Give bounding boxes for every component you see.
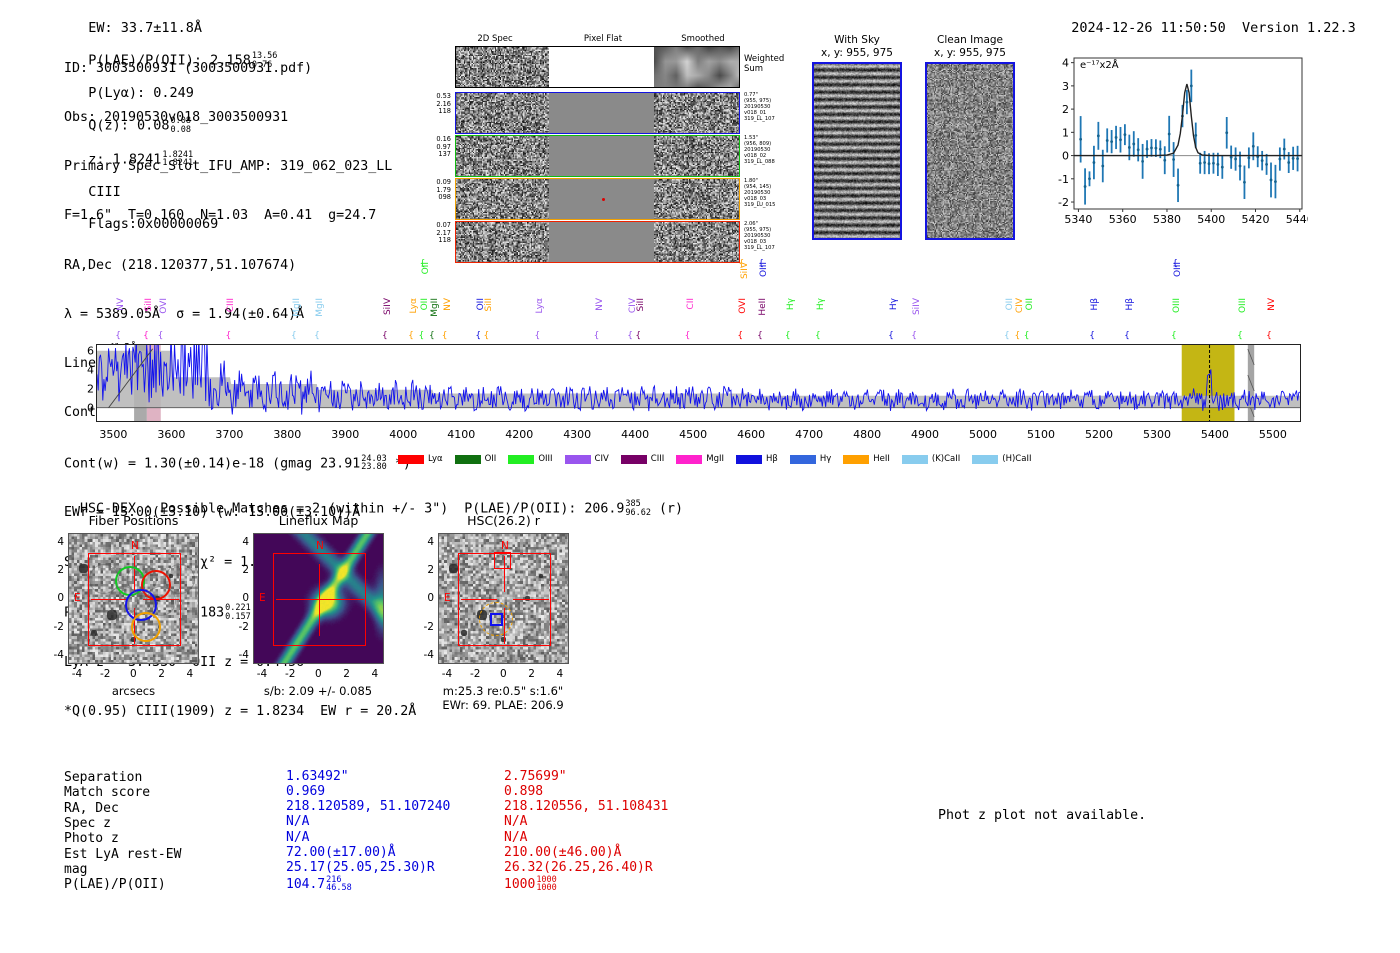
emission-line-bracket-icon: { [314, 331, 320, 341]
panel-ytick: 0 [231, 592, 249, 604]
emission-line-bracket-icon: { [419, 331, 425, 341]
emission-line-bracket-icon: { [1124, 331, 1130, 341]
match-table-col2-value: N/A [504, 814, 527, 829]
spectrum-xtick: 4200 [505, 428, 533, 441]
match-table-col1-0: 1.63492" [286, 769, 349, 784]
full-spectrum-yaxis: 0246e⁻¹⁷x2Å [70, 344, 94, 424]
header-timestamp-version: 2024-12-26 11:50:50 Version 1.22.3 [1055, 4, 1356, 36]
match-marker-box-2 [490, 613, 503, 626]
svg-text:-1: -1 [1058, 173, 1069, 186]
panel-ytick: 4 [416, 536, 434, 548]
full-spectrum-xaxis: 3500360037003800390040004100420043004400… [96, 424, 1301, 446]
fiber-meta-3: 2.06" (955, 975) 20190530 v018_03 319_LL… [744, 221, 775, 251]
fiber-circle-orange [131, 612, 161, 642]
emission-line-label: Hβ [1090, 298, 1100, 311]
compass-north: N [316, 540, 324, 552]
svg-text:-2: -2 [1058, 196, 1069, 209]
emission-line-bracket-icon: { [1089, 331, 1095, 341]
emission-line-label: MgII [292, 298, 302, 317]
legend-item-Hγ: Hγ [790, 454, 831, 464]
legend-label: OII [485, 454, 497, 464]
spec2d-fiber-cutout-0 [455, 92, 740, 134]
emission-line-bracket-icon: { [1024, 331, 1030, 341]
panel-ytick: 2 [46, 564, 64, 576]
match-table-col2-5: 210.00(±46.00)Å [504, 845, 621, 860]
legend-item-HeII: HeII [843, 454, 890, 464]
match-table-col2-value: N/A [504, 830, 527, 845]
match-table-col2-4: N/A [504, 830, 527, 845]
spectrum-xtick: 5500 [1259, 428, 1287, 441]
fiber-marker-dot [602, 198, 605, 201]
emission-line-label: HeII [758, 298, 768, 316]
emission-line-label: OII [420, 298, 430, 310]
emission-line-label: SiII [636, 298, 646, 312]
legend-swatch [398, 455, 424, 464]
panel-ytick: -4 [231, 649, 249, 661]
crosshair-horizontal-right [513, 599, 549, 600]
spectrum-xtick: 4700 [795, 428, 823, 441]
emission-line-bracket-icon: { [291, 331, 297, 341]
emission-line-bracket-icon: { [225, 331, 231, 341]
emission-line-bracket-icon: { [475, 331, 481, 341]
legend-swatch [621, 455, 647, 464]
hscdex-band: (r) [659, 502, 683, 517]
legend-swatch [736, 455, 762, 464]
info-cont-w: Cont(w) = 1.30(±0.14)e-18 (gmag 23.9124.… [64, 455, 416, 473]
info-q-line: *Q(0.95) CIII(1909) z = 1.8234 EW r = 20… [64, 704, 416, 720]
emission-line-bracket-icon: { [785, 331, 791, 341]
cutout-panel-2: HSC(26.2) rNE420-2-4-4-2024m:25.3 re:0.5… [438, 533, 569, 664]
info-gmag-range: 24.0323.80 [361, 455, 387, 472]
emission-line-label: CIV [1015, 298, 1025, 313]
compass-east: E [74, 592, 81, 604]
emission-line-bracket-icon: { [635, 331, 641, 341]
emission-line-bracket-icon: { [429, 331, 435, 341]
emission-line-bracket-icon: { [1171, 331, 1177, 341]
hscdex-plae-range: 38596.62 [625, 500, 651, 517]
svg-text:4: 4 [1062, 57, 1069, 70]
panel-xtick: 2 [343, 668, 350, 680]
match-table-label-1: Match score [64, 785, 150, 800]
match-table-col1-6: 25.17(25.05,25.30)R [286, 860, 435, 875]
legend-swatch [972, 455, 998, 464]
emission-line-label: OVI [159, 298, 169, 314]
version-label: Version 1.22.3 [1242, 20, 1356, 36]
match-table-col2-plae-range: 10001000 [536, 876, 556, 893]
match-table-col1-5: 72.00(±17.00)Å [286, 845, 396, 860]
panel-ytick: 4 [46, 536, 64, 548]
match-table-col1-value: 72.00(±17.00)Å [286, 845, 396, 860]
legend-swatch [565, 455, 591, 464]
match-table-col2-value: 2.75699" [504, 769, 567, 784]
cutout-panel-title-2: HSC(26.2) r [438, 513, 569, 528]
spectrum-xtick: 4600 [737, 428, 765, 441]
compass-north: N [131, 540, 139, 552]
spectrum-xtick: 5300 [1143, 428, 1171, 441]
spec2d-title-0: 2D Spec [465, 34, 525, 44]
with-sky-image [812, 62, 902, 240]
match-table-col2-value: 218.120556, 51.108431 [504, 799, 668, 814]
match-table-col2-7: 100010001000 [504, 876, 557, 893]
emission-line-bracket-icon: { [1004, 331, 1010, 341]
spectrum-xtick: 3900 [331, 428, 359, 441]
spectrum-xtick: 4800 [853, 428, 881, 441]
svg-text:5400: 5400 [1197, 213, 1225, 226]
sky-panel-title-text-1: Clean Image [907, 34, 1033, 47]
svg-text:2: 2 [1062, 103, 1069, 116]
svg-text:5440: 5440 [1286, 213, 1308, 226]
match-table-col1-value: 1.63492" [286, 769, 349, 784]
panel-ytick: 2 [416, 564, 434, 576]
emission-line-bracket-icon: { [143, 331, 149, 341]
emission-line-label: NV [116, 298, 126, 311]
spectrum-xtick: 4900 [911, 428, 939, 441]
match-table-col2-value: 1000 [504, 877, 535, 892]
emission-line-label: NV [443, 298, 453, 311]
legend-label: MgII [706, 454, 724, 464]
legend-label: OIII [538, 454, 552, 464]
panel-xtick: -2 [100, 668, 110, 680]
emission-line-label-row: NV{SiII{OVI{CIII{MgII{MgII{SiIV{Lyα{OII{… [0, 272, 1400, 346]
legend-item-CIV: CIV [565, 454, 609, 464]
svg-text:5380: 5380 [1153, 213, 1181, 226]
match-table-col1-2: 218.120589, 51.107240 [286, 799, 450, 814]
emission-line-bracket-icon: { [888, 331, 894, 341]
spectrum-xtick: 5000 [969, 428, 997, 441]
spec2d-fiber-cutout-3 [455, 221, 740, 263]
sky-panel-coords-1: x, y: 955, 975 [907, 47, 1033, 60]
match-table-col1-1: 0.969 [286, 784, 325, 799]
emission-line-label: Lyα [535, 298, 545, 313]
match-table-col2-value: 0.898 [504, 784, 543, 799]
fiber-stat-0: 0.53 2.16 118 [413, 93, 451, 116]
info-primary-spec: Primary Spec_Slot_IFU_AMP: 319_062_023_L… [64, 159, 416, 175]
match-table-label-6: mag [64, 862, 87, 877]
svg-text:0: 0 [1062, 150, 1069, 163]
panel-xtick: -4 [72, 668, 82, 680]
match-table-col2-3: N/A [504, 814, 527, 829]
emission-line-bracket-icon: { [483, 331, 489, 341]
match-table-col1-value: 25.17(25.05,25.30)R [286, 860, 435, 875]
match-table-col1-value: 218.120589, 51.107240 [286, 799, 450, 814]
panel-xtick: -4 [442, 668, 452, 680]
legend-item-OIII: OIII [508, 454, 552, 464]
spectrum-xtick: 4100 [447, 428, 475, 441]
panel-xlabel: m:25.3 re:0.5" s:1.6" [418, 684, 588, 698]
panel-xlabel-secondary: EWr: 69. PLAE: 206.9 [418, 698, 588, 712]
legend-item-CIII: CIII [621, 454, 664, 464]
spectrum-xtick: 3700 [215, 428, 243, 441]
spectrum-xtick: 4500 [679, 428, 707, 441]
emission-line-label: NV [1267, 298, 1277, 311]
emission-line-bracket-icon: { [815, 331, 821, 341]
spectrum-legend: LyαOIIOIIICIVCIIIMgIIHβHγHeII(K)CaII(H)C… [398, 452, 1018, 466]
cutout-image-2: NE [438, 533, 569, 664]
panel-xtick: 4 [186, 668, 193, 680]
spectrum-ytick: 2 [87, 382, 94, 395]
match-table-label-0: Separation [64, 770, 142, 785]
info-fit-params: F=1.6" T=0.160 N=1.03 A=0.41 g=24.7 [64, 208, 416, 224]
match-table-col1-value: N/A [286, 830, 309, 845]
svg-text:5340: 5340 [1064, 213, 1092, 226]
panel-ytick: -2 [416, 621, 434, 633]
emission-line-zoom-chart: -2-101234534053605380540054205440e⁻¹⁷x2Å [1040, 52, 1308, 235]
panel-ytick: -2 [46, 621, 64, 633]
legend-item-Hβ: Hβ [736, 454, 778, 464]
match-table-col1-value: 104.7 [286, 877, 325, 892]
emission-line-bracket-icon: { [408, 331, 414, 341]
spectrum-xtick: 3500 [99, 428, 127, 441]
spectrum-xtick: 5400 [1201, 428, 1229, 441]
emission-line-bracket-icon: { [627, 331, 633, 341]
match-table-col2-value: 210.00(±46.00)Å [504, 845, 621, 860]
spec2d-title-2: Smoothed [673, 34, 733, 44]
emission-line-label: SiII [484, 298, 494, 312]
emission-line-bracket-icon: { [757, 331, 763, 341]
legend-label: HeII [873, 454, 890, 464]
spectrum-xtick: 5200 [1085, 428, 1113, 441]
spec2d-weighted-sum-cutout [455, 46, 740, 88]
match-table-col1-7: 104.721646.58 [286, 876, 352, 893]
svg-text:1: 1 [1062, 126, 1069, 139]
panel-ytick: 2 [231, 564, 249, 576]
emission-line-label: Hβ [1125, 298, 1135, 311]
match-table-col2-1: 0.898 [504, 784, 543, 799]
emission-line-label: MgII [430, 298, 440, 317]
cutout-image-0: NE [68, 533, 199, 664]
cutout-panel-title-0: Fiber Positions [68, 513, 199, 528]
panel-ytick: 4 [231, 536, 249, 548]
legend-item-Lyα: Lyα [398, 454, 443, 464]
emission-line-bracket-icon: { [442, 331, 448, 341]
crosshair-horizontal [461, 599, 497, 600]
emission-line-bracket-icon: { [758, 259, 764, 269]
emission-line-label: SiIV [383, 298, 393, 315]
emission-line-label: OII [1005, 298, 1015, 310]
emission-line-bracket-icon: { [115, 331, 121, 341]
legend-swatch [790, 455, 816, 464]
fiber-circle-background [165, 564, 195, 594]
emission-line-bracket-icon: { [1237, 331, 1243, 341]
match-table-label-2: RA, Dec [64, 801, 119, 816]
panel-xlabel: arcsecs [68, 684, 199, 698]
svg-text:3: 3 [1062, 80, 1069, 93]
sky-panel-title-0: With Skyx, y: 955, 975 [794, 34, 920, 59]
legend-label: Hγ [820, 454, 831, 464]
legend-label: Hβ [766, 454, 778, 464]
spectrum-xtick: 3800 [273, 428, 301, 441]
match-table-col1-4: N/A [286, 830, 309, 845]
sky-panel-title-1: Clean Imagex, y: 955, 975 [907, 34, 1033, 59]
info-plae-range: 0.2210.157 [225, 604, 251, 621]
emission-line-label: OIII [1238, 298, 1248, 313]
match-table-col2-value: 26.32(26.25,26.40)R [504, 860, 653, 875]
match-table-label-4: Photo z [64, 831, 119, 846]
emission-line-label: CIII [226, 298, 236, 312]
fiber-stat-3: 0.07 2.17 118 [413, 222, 451, 245]
clean-image [925, 62, 1015, 240]
emission-line-label: OIII [1172, 298, 1182, 313]
cutout-image-1: NE [253, 533, 384, 664]
fiber-meta-0: 0.77" (955, 975) 20190530 v018_01 319_LL… [744, 92, 775, 122]
spec2d-title-1: Pixel Flat [573, 34, 633, 44]
info-obs: Obs: 20190530v018_3003500931 [64, 110, 416, 126]
compass-north: N [501, 540, 509, 552]
spectrum-xtick: 4300 [563, 428, 591, 441]
panel-xtick: 0 [130, 668, 137, 680]
panel-xlabel: s/b: 2.09 +/- 0.085 [243, 684, 393, 698]
match-table-col2-2: 218.120556, 51.108431 [504, 799, 668, 814]
fiber-meta-1: 1.53" (956, 809) 20190530 v018_02 319_LL… [744, 135, 775, 165]
panel-xtick: 0 [315, 668, 322, 680]
panel-xtick: 4 [371, 668, 378, 680]
compass-east: E [444, 592, 451, 604]
panel-ytick: 0 [46, 592, 64, 604]
legend-item-MgII: MgII [676, 454, 724, 464]
legend-label: CIII [651, 454, 664, 464]
panel-xtick: -4 [257, 668, 267, 680]
match-table-col1-3: N/A [286, 814, 309, 829]
emission-line-label: Hγ [816, 298, 826, 310]
legend-swatch [676, 455, 702, 464]
spectrum-ytick: 4 [87, 363, 94, 376]
svg-text:5420: 5420 [1242, 213, 1270, 226]
panel-xtick: 0 [500, 668, 507, 680]
sky-source-blob [449, 564, 458, 573]
emission-line-label: CII [686, 298, 696, 310]
spectrum-xtick: 3600 [157, 428, 185, 441]
emission-line-bracket-icon: { [420, 259, 426, 269]
match-marker-box-1 [494, 552, 511, 569]
crosshair-vertical [319, 564, 320, 636]
sky-panel-coords-0: x, y: 955, 975 [794, 47, 920, 60]
emission-line-label: SiII [144, 298, 154, 312]
panel-xtick: -2 [470, 668, 480, 680]
sky-panel-title-text-0: With Sky [794, 34, 920, 47]
sky-source-blob [79, 564, 88, 573]
emission-line-bracket-icon: { [685, 331, 691, 341]
spectrum-ytick: 6 [87, 344, 94, 357]
emission-line-label: SiIV [912, 298, 922, 315]
match-table-col2-0: 2.75699" [504, 769, 567, 784]
photz-note: Phot z plot not available. [938, 808, 1146, 823]
svg-text:5360: 5360 [1109, 213, 1137, 226]
emission-line-label: MgII [315, 298, 325, 317]
match-table-label-5: Est LyA rest-EW [64, 847, 181, 862]
legend-label: (K)CaII [932, 454, 960, 464]
spec2d-fiber-cutout-2 [455, 178, 740, 220]
cutout-panel-0: Fiber PositionsNE420-2-4-4-2024arcsecs [68, 533, 199, 664]
legend-swatch [508, 455, 534, 464]
match-table-label-3: Spec z [64, 816, 111, 831]
panel-ytick: 0 [416, 592, 434, 604]
fiber-meta-2: 1.80" (954, 145) 20190530 v018_03 319_LU… [744, 178, 775, 208]
full-spectrum-chart [96, 344, 1301, 422]
emission-line-label: Lyα [409, 298, 419, 313]
crosshair-horizontal [276, 599, 364, 600]
spec2d-fiber-cutout-1 [455, 135, 740, 177]
emission-line-bracket-icon: { [594, 331, 600, 341]
cutout-panel-1: Lineflux MapNE420-2-4-4-2024s/b: 2.09 +/… [253, 533, 384, 664]
fiber-stat-2: 0.09 1.79 098 [413, 179, 451, 202]
legend-label: Lyα [428, 454, 443, 464]
spectrum-ytick: 0 [87, 401, 94, 414]
emission-line-bracket-icon: { [1266, 331, 1272, 341]
info-id: ID: 3003500931 (3003500931.pdf) [64, 61, 416, 77]
emission-line-bracket-icon: { [911, 331, 917, 341]
legend-label: (H)CaII [1002, 454, 1031, 464]
legend-item-OII: OII [455, 454, 497, 464]
emission-line-bracket-icon: { [382, 331, 388, 341]
panel-xtick: 4 [556, 668, 563, 680]
emission-line-label: NV [595, 298, 605, 311]
panel-ytick: -2 [231, 621, 249, 633]
cutout-panel-title-1: Lineflux Map [253, 513, 384, 528]
match-table-col1-plae-range: 21646.58 [326, 876, 352, 893]
emission-line-label: OII [1025, 298, 1035, 310]
legend-item-HCaII: (H)CaII [972, 454, 1031, 464]
legend-label: CIV [595, 454, 609, 464]
weighted-sum-label: Weighted Sum [744, 54, 784, 74]
legend-swatch [455, 455, 481, 464]
fiber-stat-1: 0.16 0.97 137 [413, 136, 451, 159]
emission-line-bracket-icon: { [534, 331, 540, 341]
legend-swatch [902, 455, 928, 464]
emission-line-bracket-icon: { [1172, 259, 1178, 269]
emission-line-bracket-icon: { [158, 331, 164, 341]
panel-xtick: 2 [158, 668, 165, 680]
legend-swatch [843, 455, 869, 464]
panel-xtick: 2 [528, 668, 535, 680]
emission-line-label: OVI [738, 298, 748, 314]
panel-ytick: -4 [46, 649, 64, 661]
match-table-col1-value: 0.969 [286, 784, 325, 799]
emission-line-bracket-icon: { [1014, 331, 1020, 341]
spectrum-xtick: 4400 [621, 428, 649, 441]
zoom-chart-flux-units: e⁻¹⁷x2Å [1080, 60, 1119, 71]
emission-line-bracket-icon: { [737, 331, 743, 341]
timestamp: 2024-12-26 11:50:50 [1071, 20, 1225, 36]
match-table-col1-value: N/A [286, 814, 309, 829]
emission-line-label: Hγ [786, 298, 796, 310]
emission-line-label: Hγ [889, 298, 899, 310]
panel-xtick: -2 [285, 668, 295, 680]
match-table-col2-6: 26.32(26.25,26.40)R [504, 860, 653, 875]
panel-ytick: -4 [416, 649, 434, 661]
emission-line-bracket-icon: { [739, 259, 745, 269]
spectrum-xtick: 4000 [389, 428, 417, 441]
match-table-label-7: P(LAE)/P(OII) [64, 877, 166, 892]
spectrum-xtick: 5100 [1027, 428, 1055, 441]
legend-item-KCaII: (K)CaII [902, 454, 960, 464]
compass-east: E [259, 592, 266, 604]
